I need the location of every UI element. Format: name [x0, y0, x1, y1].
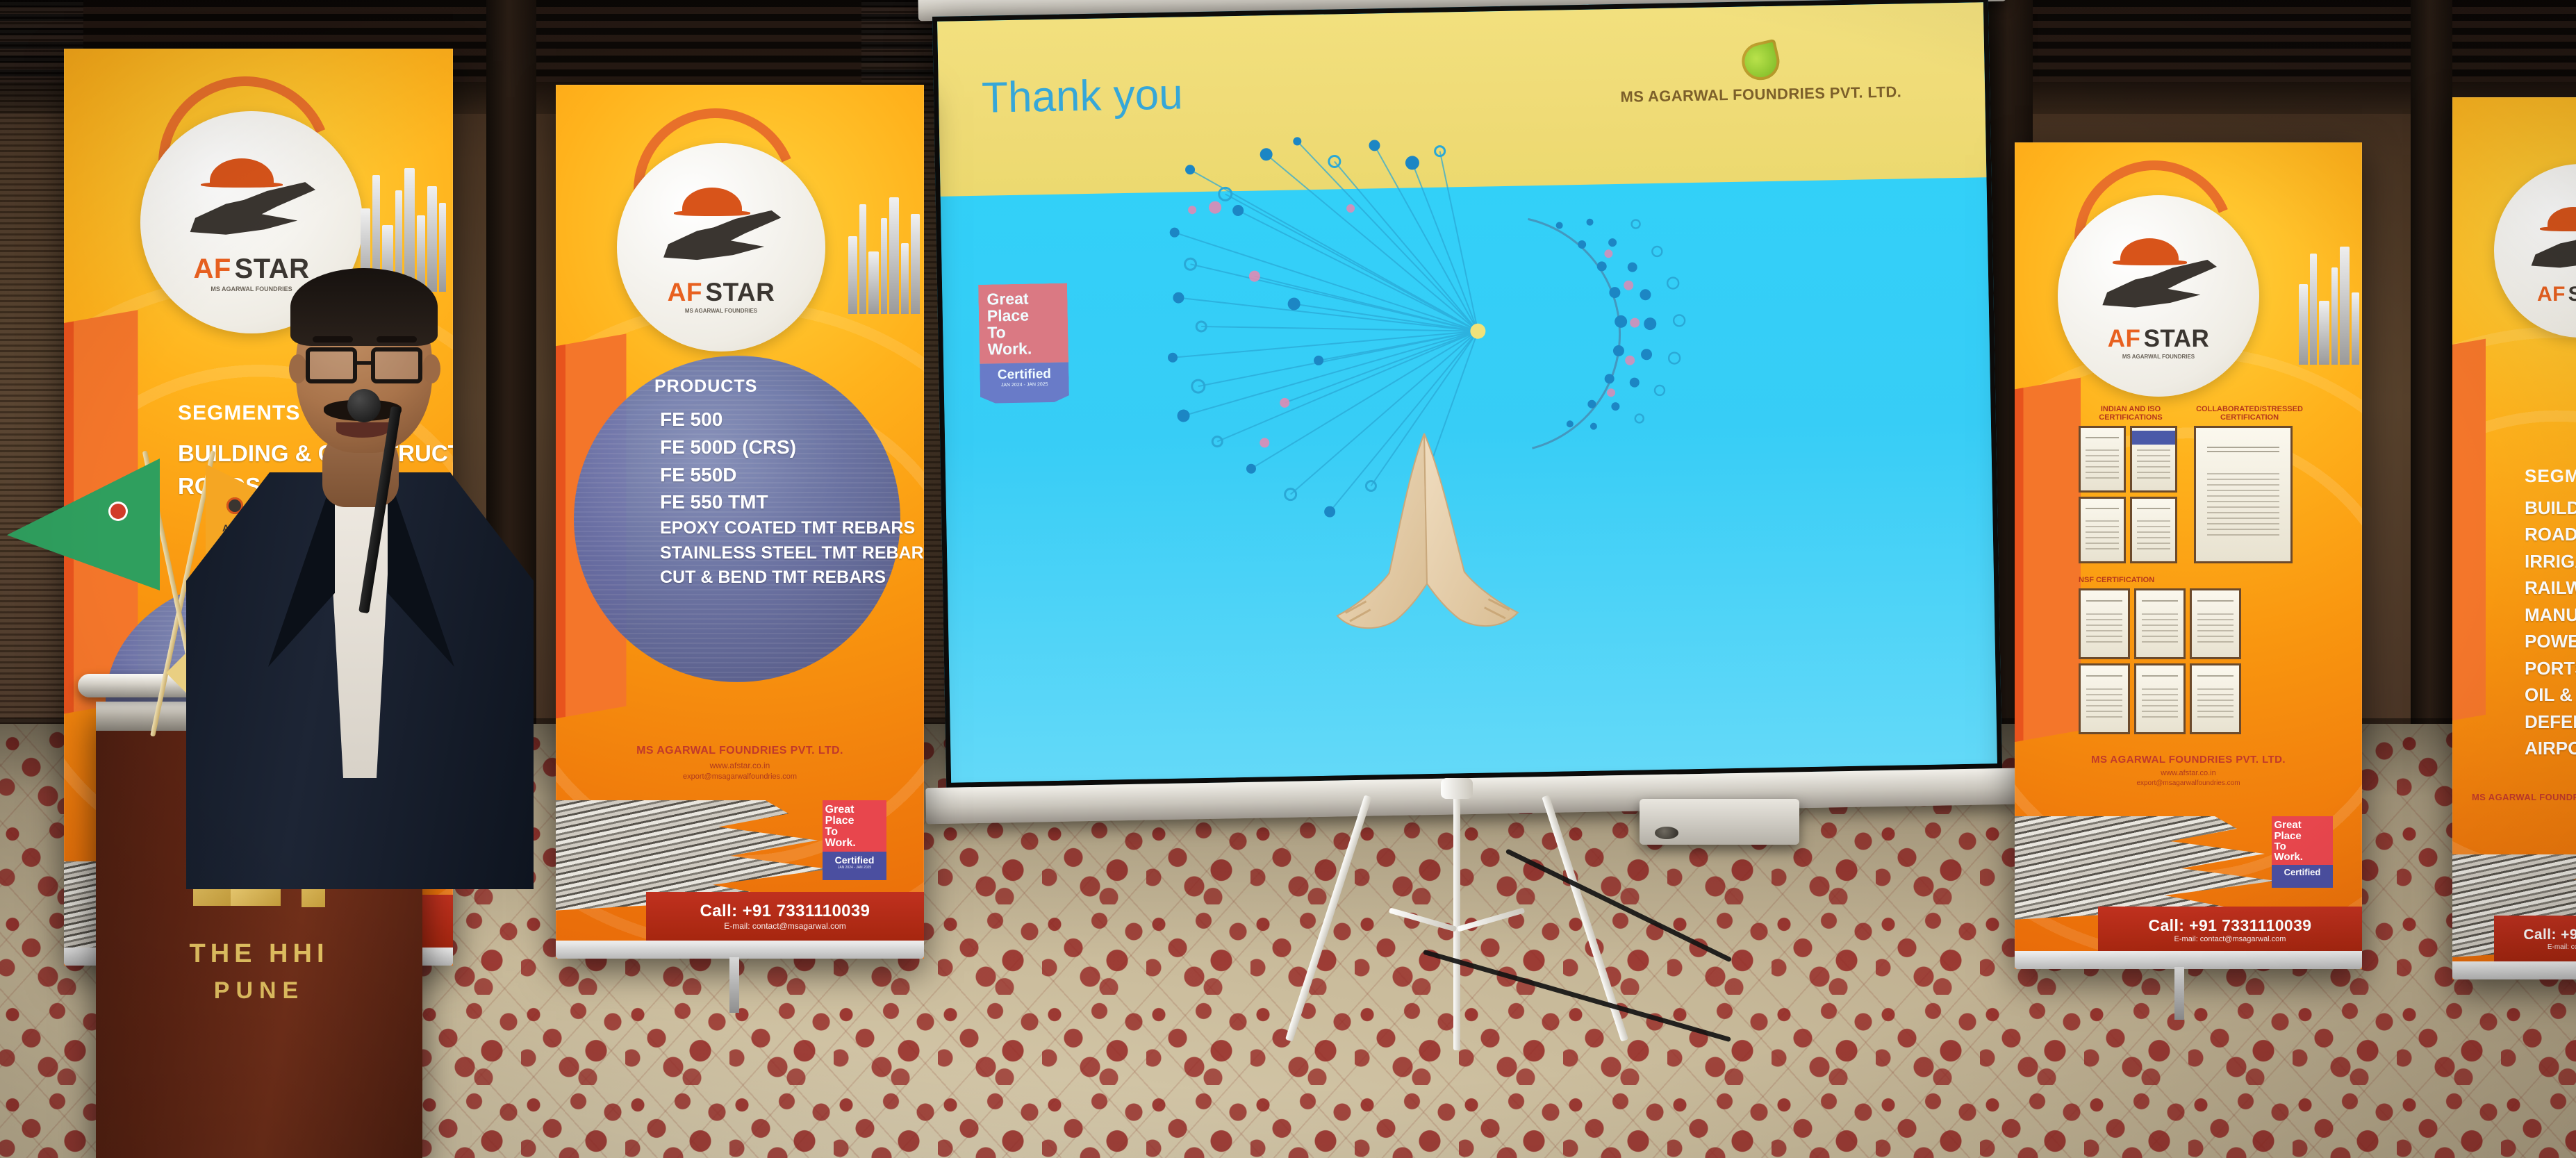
- gptw-certified: Certified: [2274, 867, 2331, 877]
- af-star-logo: AF STAR MS AGARWAL FOUNDRIES: [646, 169, 796, 326]
- screen-tripod: [1356, 778, 1558, 1049]
- gptw-certified: Certified: [825, 854, 884, 866]
- segment-item-3: RAILWAYS: [2525, 574, 2576, 601]
- gptw-top: Great Place To Work.: [2272, 816, 2333, 865]
- product-item-5: STAINLESS STEEL TMT REBARS: [660, 541, 924, 566]
- venue-city: PUNE: [96, 977, 422, 1004]
- helmet-icon: [682, 188, 742, 213]
- logo-af-text: AF: [2537, 284, 2566, 305]
- skyline-rebars-illustration: [2299, 247, 2359, 365]
- hair: [290, 268, 438, 346]
- gptw-line4: Work.: [988, 340, 1060, 358]
- ear-left: [289, 354, 307, 383]
- helmet-icon: [2120, 238, 2179, 263]
- cert-group-2: COLLABORATED/STRESSED CERTIFICATION: [2194, 405, 2305, 563]
- gptw-line4: Work.: [825, 838, 884, 849]
- gptw-top: Great Place To Work.: [823, 800, 886, 852]
- cert-group-1-title: INDIAN AND ISO CERTIFICATIONS: [2079, 405, 2183, 422]
- gptw-line1: Great: [825, 804, 884, 816]
- tripod-brace-left: [1389, 907, 1457, 932]
- gptw-certified-badge: Great Place To Work. Certified: [2272, 816, 2333, 908]
- cert-group-2-title: COLLABORATED/STRESSED CERTIFICATION: [2194, 405, 2305, 422]
- footer-company-name: MS AGARWAL FOUNDRIES PVT. LTD.: [556, 745, 924, 757]
- certificate-doc: [2190, 663, 2241, 734]
- banner-base-bar: [556, 941, 924, 959]
- segment-item-8: DEFENCE: [2525, 709, 2576, 735]
- projector-lens: [1655, 827, 1678, 839]
- flag-emblem-dot: [108, 502, 128, 521]
- ear-right: [422, 354, 440, 383]
- banner-stand-products: [729, 957, 739, 1013]
- product-item-0: FE 500: [660, 406, 924, 433]
- venue-name: THE HHI: [96, 939, 422, 969]
- contact-call: Call: +91 7331110039: [2523, 927, 2576, 943]
- banner-base-bar: [2015, 951, 2362, 969]
- projector: [1640, 799, 1799, 845]
- certificate-doc: [2134, 663, 2186, 734]
- eyeglasses-bridge: [356, 361, 374, 365]
- gptw-line4: Work.: [2274, 852, 2331, 862]
- contact-call: Call: +91 7331110039: [2148, 916, 2311, 935]
- gptw-line1: Great: [2274, 820, 2331, 830]
- event-photo-scene: Thank you MS AGARWAL FOUNDRIES PVT. LTD.: [0, 0, 2576, 1158]
- microphone-stem: [358, 406, 402, 614]
- footer-company-name: MS AGARWAL FOUNDRIES PVT. LTD.: [2015, 754, 2362, 766]
- gptw-bottom: Certified JAN 2024 - JAN 2025: [823, 852, 886, 879]
- gptw-bottom: Certified JAN 2024 - JAN 2025: [980, 362, 1069, 403]
- wall-pillar-far-right: [2411, 0, 2452, 753]
- cert-group-3-title: NSF CERTIFICATION: [2079, 576, 2308, 584]
- product-item-4: EPOXY COATED TMT REBARS: [660, 516, 924, 541]
- leaf-icon: [1738, 39, 1783, 84]
- banner-contact-bar: Call: +91 7331110039 E-mail: contact@msa…: [2494, 916, 2576, 961]
- banner-stand-certifications: [2174, 967, 2184, 1020]
- product-item-3: FE 550 TMT: [660, 488, 924, 516]
- gptw-line3: To: [987, 324, 1059, 342]
- banner-contact-bar: Call: +91 7331110039 E-mail: contact@msa…: [2098, 907, 2362, 952]
- certificate-doc: [2079, 497, 2126, 563]
- segment-item-2: IRRIGATION: [2525, 548, 2576, 574]
- banner-footer-brand: MS AGARWAL FOUNDRIES PVT. LTD.: [2452, 792, 2576, 802]
- logo-star-text: STAR: [2568, 284, 2576, 305]
- segment-item-6: PORTS: [2525, 655, 2576, 681]
- cert-group-3: NSF CERTIFICATION: [2079, 576, 2308, 734]
- certificate-doc: [2134, 588, 2186, 659]
- footer-website: www.afstar.co.in: [2015, 769, 2362, 777]
- logo-star-text: STAR: [2144, 326, 2210, 351]
- logo-af-text: AF: [2108, 326, 2141, 351]
- worker-mascot-icon: [2516, 202, 2576, 284]
- namaste-folded-hands-graphic: [1320, 427, 1533, 660]
- banner-segment-list: BUILDING & CONSTRUCTION ROADS IRRIGATION…: [2525, 495, 2576, 762]
- banner-footer-brand: MS AGARWAL FOUNDRIES PVT. LTD. www.afsta…: [556, 745, 924, 781]
- banner-product-list: FE 500 FE 500D (CRS) FE 550D FE 550 TMT …: [660, 406, 924, 590]
- segment-item-9: AIRPORTS: [2525, 735, 2576, 761]
- segment-item-1: ROADS: [2525, 521, 2576, 547]
- gptw-top: Great Place To Work.: [978, 283, 1068, 364]
- worker-mascot-icon: [2086, 232, 2231, 326]
- logo-af-text: AF: [668, 279, 702, 305]
- certificate-doc: [2194, 426, 2293, 563]
- tripod-brace-right: [1457, 907, 1525, 932]
- slide-gptw-badge: Great Place To Work. Certified JAN 2024 …: [978, 283, 1069, 417]
- rollup-banner-certifications: AF STAR MS AGARWAL FOUNDRIES INDIAN AND …: [2015, 142, 2362, 969]
- certificate-doc: [2079, 588, 2130, 659]
- slide-brand-logo: MS AGARWAL FOUNDRIES PVT. LTD.: [1619, 40, 1901, 106]
- worker-mascot-icon: [646, 182, 796, 279]
- contact-email: E-mail: contact@msagarwal.com: [2174, 935, 2286, 943]
- product-item-1: FE 500D (CRS): [660, 433, 924, 461]
- banner-contact-bar: Call: +91 7331110039 E-mail: contact@msa…: [646, 892, 924, 941]
- logo-star-text: STAR: [705, 279, 775, 305]
- af-star-logo: AF STAR MS AGARWAL FOUNDRIES: [2086, 220, 2231, 372]
- microphone: [340, 389, 493, 611]
- segment-item-5: POWER: [2525, 628, 2576, 654]
- mascot-body-icon: [661, 209, 782, 270]
- segment-item-0: BUILDING & CONSTRUCTION: [2525, 495, 2576, 521]
- gptw-certified: Certified: [985, 366, 1063, 383]
- product-item-2: FE 550D: [660, 461, 924, 489]
- certificate-doc: [2130, 497, 2177, 563]
- contact-call: Call: +91 7331110039: [700, 902, 870, 921]
- logo-tagline: MS AGARWAL FOUNDRIES: [685, 308, 757, 314]
- skyline-rebars-illustration: [848, 196, 920, 314]
- banner-footer-brand: MS AGARWAL FOUNDRIES PVT. LTD. www.afsta…: [2015, 754, 2362, 787]
- gptw-bottom: Certified: [2272, 865, 2333, 888]
- af-star-logo: AF STAR: [2516, 188, 2576, 320]
- footer-email: export@msagarwalfoundries.com: [2015, 779, 2362, 787]
- tripod-leg-center: [1453, 792, 1460, 1050]
- slide-title: Thank you: [981, 69, 1183, 122]
- gptw-line2: Place: [2274, 831, 2331, 841]
- eyeglasses-left-lens: [306, 347, 357, 383]
- banner-section-title: SEGMENTS: [2525, 465, 2576, 487]
- mascot-body-icon: [188, 181, 315, 245]
- gptw-line2: Place: [987, 307, 1059, 325]
- logo-tagline: MS AGARWAL FOUNDRIES: [2122, 354, 2195, 360]
- certificate-doc: [2079, 663, 2130, 734]
- rollup-banner-segments-right: AF STAR SEGMENTS BUILDING & CONSTRUCTION…: [2452, 97, 2576, 979]
- eyeglasses-right-lens: [371, 347, 422, 383]
- certificate-doc: [2190, 588, 2241, 659]
- cert-group-1: INDIAN AND ISO CERTIFICATIONS: [2079, 405, 2183, 563]
- gptw-line3: To: [825, 827, 884, 838]
- projection-screen: Thank you MS AGARWAL FOUNDRIES PVT. LTD.: [932, 0, 2002, 788]
- segment-item-7: OIL & GAS: [2525, 681, 2576, 708]
- microphone-head: [347, 389, 381, 422]
- certificate-doc: [2130, 426, 2177, 493]
- contact-email: E-mail: contact@msagarwal.com: [2548, 943, 2576, 951]
- tripod-head: [1441, 778, 1473, 799]
- certificate-doc: [2079, 426, 2126, 493]
- rollup-banner-products: AF STAR MS AGARWAL FOUNDRIES PRODUCTS FE…: [556, 85, 924, 959]
- gptw-line2: Place: [825, 816, 884, 827]
- helmet-icon: [210, 158, 274, 185]
- eyebrow-left: [313, 336, 353, 342]
- gptw-certified-badge: Great Place To Work. Certified JAN 2024 …: [823, 800, 886, 896]
- banner-section-title: PRODUCTS: [654, 377, 757, 397]
- product-item-6: CUT & BEND TMT REBARS: [660, 565, 924, 590]
- gptw-line3: To: [2274, 841, 2331, 852]
- footer-website: www.afstar.co.in: [556, 761, 924, 770]
- footer-email: export@msagarwalfoundries.com: [556, 772, 924, 781]
- gptw-line1: Great: [986, 290, 1059, 308]
- eyebrow-right: [377, 336, 417, 342]
- mascot-body-icon: [2529, 225, 2576, 276]
- segment-item-4: MANUFACTURING: [2525, 602, 2576, 628]
- footer-company-name: MS AGARWAL FOUNDRIES PVT. LTD.: [2452, 792, 2576, 802]
- gptw-cert-period: JAN 2024 - JAN 2025: [825, 866, 884, 870]
- worker-mascot-icon: [172, 152, 331, 256]
- banner-base-bar: [2452, 961, 2576, 979]
- screen-surface: Thank you MS AGARWAL FOUNDRIES PVT. LTD.: [932, 0, 2002, 788]
- contact-email: E-mail: contact@msagarwal.com: [724, 921, 846, 931]
- presentation-slide: Thank you MS AGARWAL FOUNDRIES PVT. LTD.: [937, 2, 1997, 782]
- helmet-icon: [2548, 207, 2576, 229]
- mascot-body-icon: [2100, 258, 2217, 317]
